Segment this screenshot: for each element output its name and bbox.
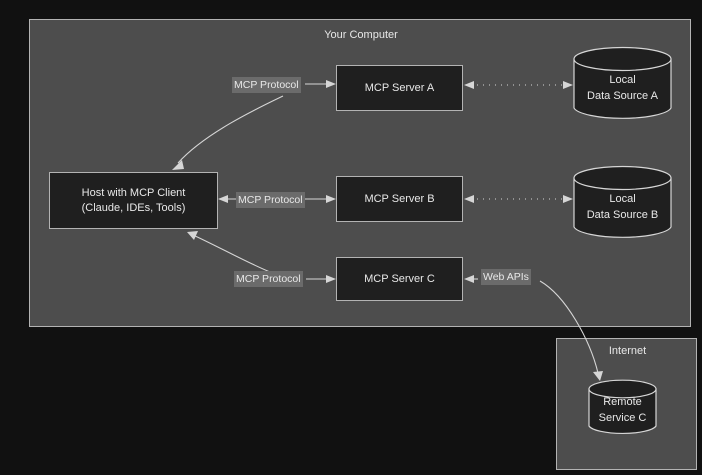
node-mcp-server-c-label: MCP Server C [364,272,435,287]
database-cylinder-icon [588,379,657,436]
node-remote-service-c[interactable]: Remote Service C [588,379,657,436]
node-host-with-mcp-client[interactable]: Host with MCP Client (Claude, IDEs, Tool… [49,172,218,229]
database-cylinder-icon [573,165,672,240]
node-mcp-server-b-label: MCP Server B [364,192,434,207]
diagram-canvas: Your Computer Internet [0,0,702,475]
edge-label-mcp-protocol-b: MCP Protocol [236,192,305,208]
node-mcp-server-a[interactable]: MCP Server A [336,65,463,111]
panel-internet-title: Internet [557,345,698,358]
edge-label-mcp-protocol-c: MCP Protocol [234,271,303,287]
node-mcp-server-b[interactable]: MCP Server B [336,176,463,222]
node-mcp-server-c[interactable]: MCP Server C [336,257,463,301]
node-mcp-server-a-label: MCP Server A [365,81,435,96]
edge-label-mcp-protocol-a: MCP Protocol [232,77,301,93]
panel-your-computer-title: Your Computer [30,29,692,42]
node-local-data-source-a[interactable]: Local Data Source A [573,46,672,121]
node-local-data-source-b[interactable]: Local Data Source B [573,165,672,240]
database-cylinder-icon [573,46,672,121]
node-host-line-1: Host with MCP Client [82,186,186,201]
edge-label-web-apis: Web APIs [481,269,531,285]
node-host-line-2: (Claude, IDEs, Tools) [82,201,186,216]
